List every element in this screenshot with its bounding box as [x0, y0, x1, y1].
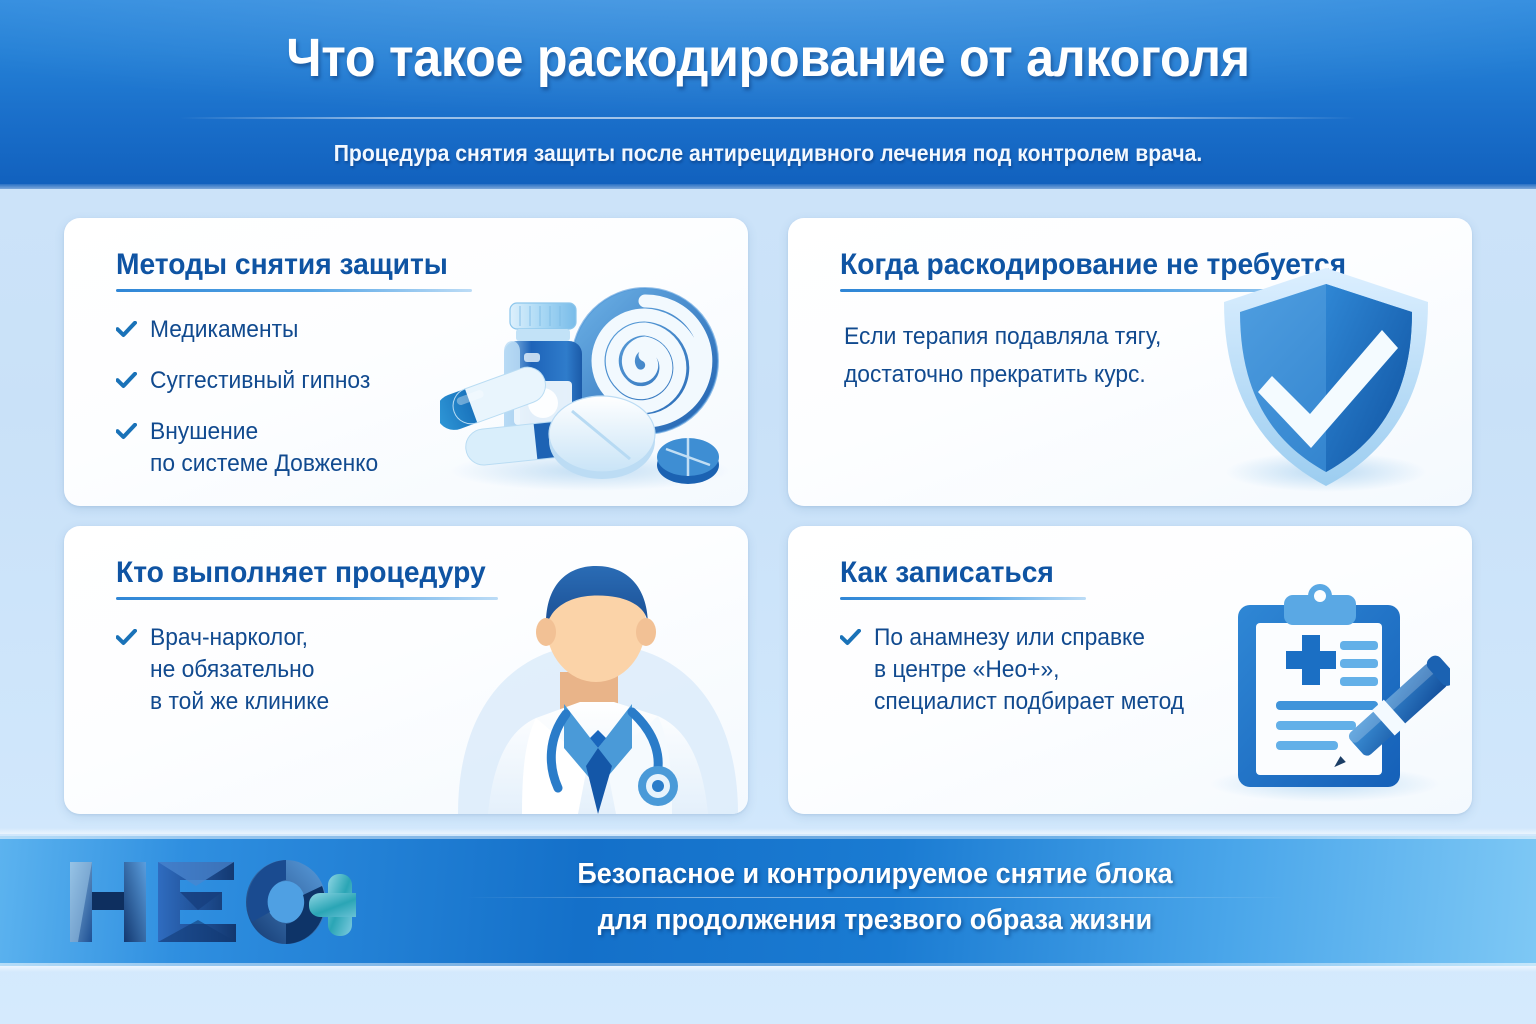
brand-logo: [66, 850, 356, 952]
card-title: Методы снятия защиты: [116, 248, 672, 281]
check-icon: [116, 321, 137, 343]
list-item-label: Медикаменты: [150, 314, 298, 346]
page-title: Что такое раскодирование от алкоголя: [54, 27, 1482, 89]
check-icon: [840, 629, 861, 651]
list-item-label: Врач-нарколог, не обязательно в той же к…: [150, 622, 329, 718]
card-methods: Методы снятия защиты Медикаменты Суггест…: [64, 218, 748, 506]
footer-tagline-line-1: Безопасное и контролируемое снятие блока: [396, 854, 1354, 894]
page-header: Что такое раскодирование от алкоголя Про…: [0, 0, 1536, 189]
footer-bottom-sheen: [0, 966, 1536, 972]
footer-top-sheen: [0, 828, 1536, 834]
footer-tagline: Безопасное и контролируемое снятие блока…: [360, 854, 1390, 940]
title-underline: [116, 289, 472, 292]
check-icon: [116, 423, 137, 445]
card-how-to-book: Как записаться По анамнезу или справке в…: [788, 526, 1472, 814]
page-footer: Безопасное и контролируемое снятие блока…: [0, 836, 1536, 966]
title-underline: [840, 597, 1086, 600]
check-icon: [116, 372, 137, 394]
shield-check-icon: [1206, 258, 1446, 498]
card-who-performs: Кто выполняет процедуру Врач-нарколог, н…: [64, 526, 748, 814]
list-item: Суггестивный гипноз: [116, 365, 390, 397]
check-icon: [116, 629, 137, 651]
list-item: Врач-нарколог, не обязательно в той же к…: [116, 622, 339, 718]
card-paragraph: Если терапия подавляла тягу, достаточно …: [844, 318, 1161, 394]
doctor-icon: [418, 552, 748, 814]
card-grid: Методы снятия защиты Медикаменты Суггест…: [64, 218, 1472, 814]
bullet-list: По анамнезу или справке в центре «Нео+»,…: [840, 622, 1200, 737]
footer-tagline-divider: [465, 897, 1285, 898]
footer-tagline-line-2: для продолжения трезвого образа жизни: [396, 900, 1354, 940]
list-item: По анамнезу или справке в центре «Нео+»,…: [840, 622, 1200, 718]
header-divider: [180, 117, 1356, 119]
infographic-page: Что такое раскодирование от алкоголя Про…: [0, 0, 1536, 1024]
clipboard-pen-icon: [1190, 579, 1450, 804]
list-item: Внушение по системе Довженко: [116, 416, 390, 480]
page-subtitle: Процедура снятия защиты после антирециди…: [61, 140, 1474, 167]
pills-and-spiral-icon: [440, 279, 740, 494]
list-item-label: Внушение по системе Довженко: [150, 416, 378, 480]
bullet-list: Медикаменты Суггестивный гипноз Внушение…: [116, 314, 390, 499]
list-item: Медикаменты: [116, 314, 390, 346]
card-not-required: Когда раскодирование не требуется Если т…: [788, 218, 1472, 506]
list-item-label: Суггестивный гипноз: [150, 365, 370, 397]
bullet-list: Врач-нарколог, не обязательно в той же к…: [116, 622, 339, 737]
list-item-label: По анамнезу или справке в центре «Нео+»,…: [874, 622, 1184, 718]
